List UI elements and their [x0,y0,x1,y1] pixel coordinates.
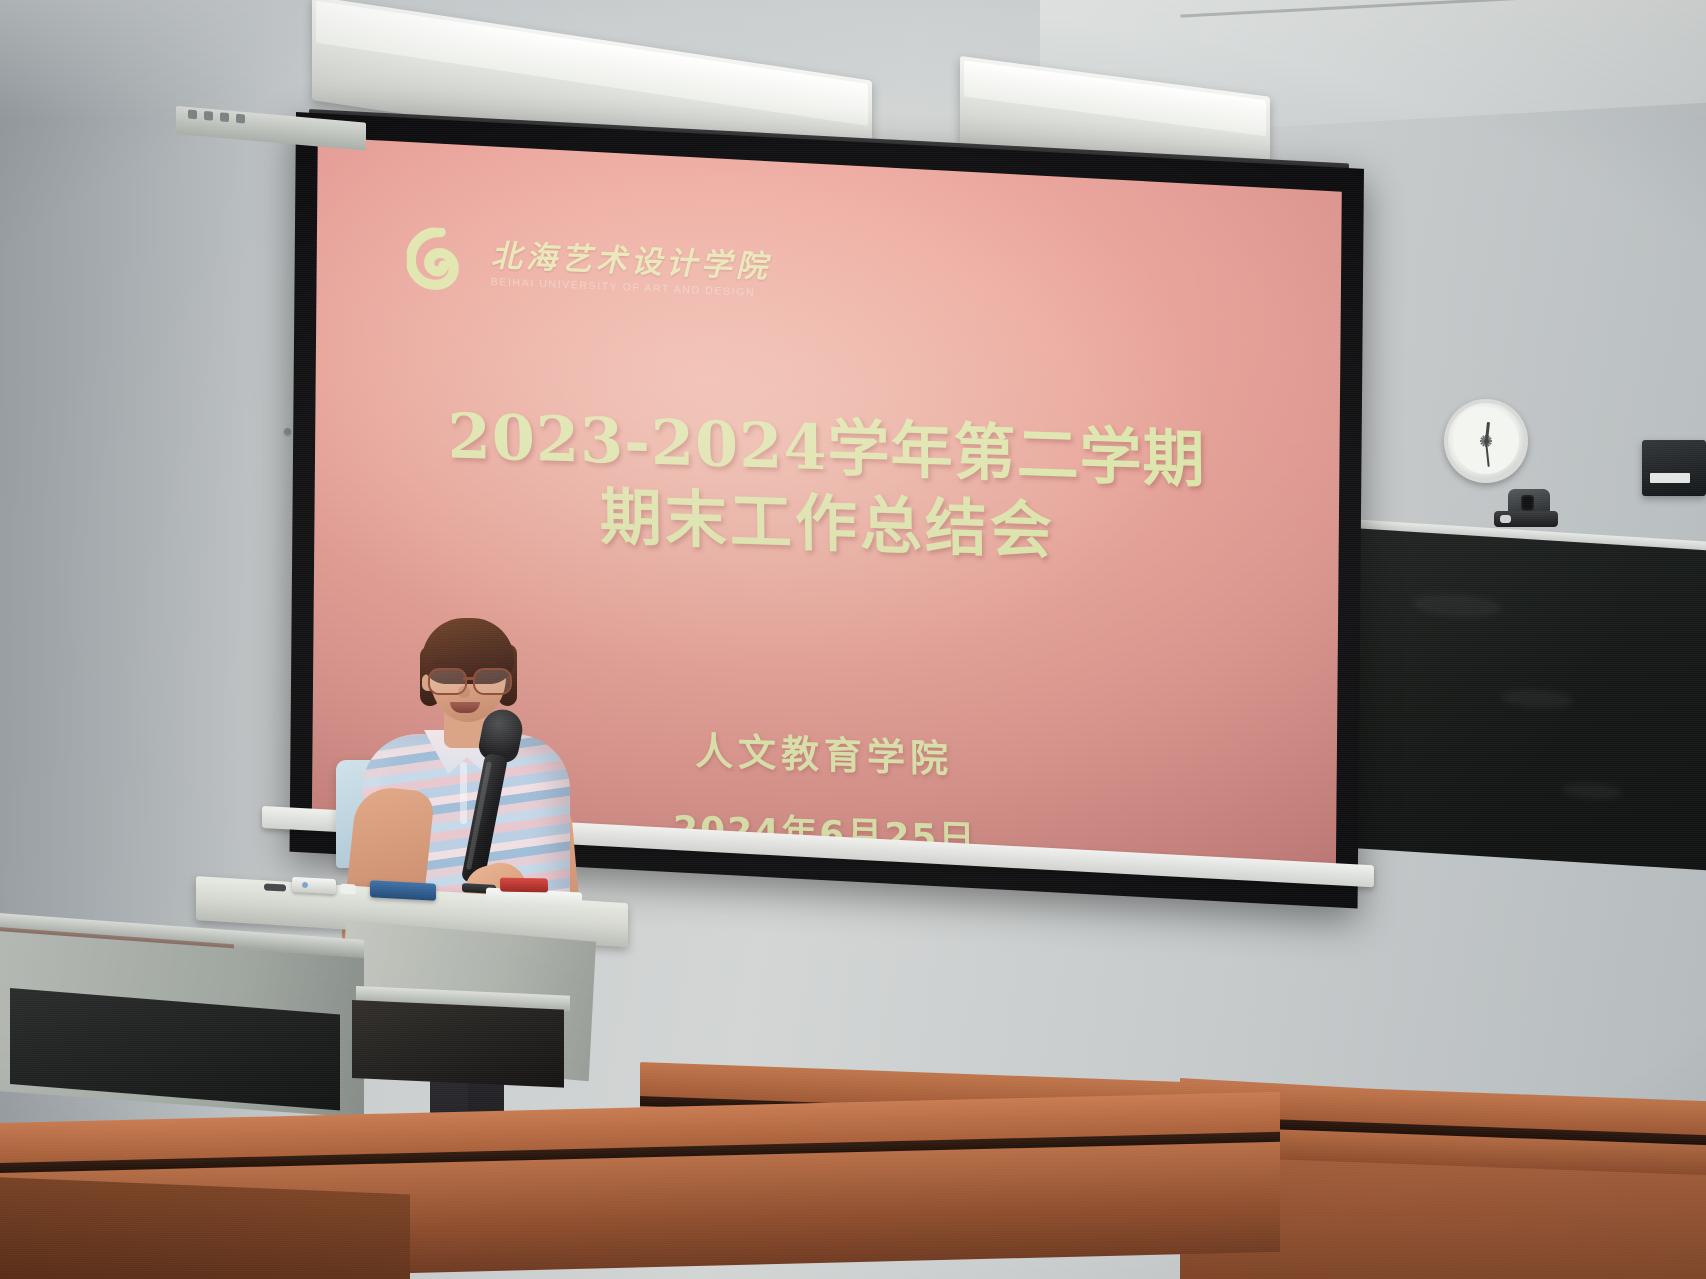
lens-right [473,668,512,695]
marker-cap[interactable] [340,884,356,895]
wall-control-panel[interactable] [1642,440,1706,496]
red-object[interactable] [500,878,548,893]
ptz-camera [1494,489,1560,531]
lectern-button[interactable] [204,111,213,121]
student-desk-left-block [0,1176,410,1279]
remote-control[interactable] [292,877,336,894]
classroom-photo-scene: 北海艺术设计学院 BEIHAI UNIVERSITY OF ART AND DE… [0,0,1706,1279]
panel-label-strip [1650,473,1690,483]
ptz-indicator [1500,515,1511,523]
lectern-button[interactable] [220,112,229,122]
slide-title: 2023-2024学年第二学期 期末工作总结会 [314,394,1340,578]
slide-brand-lockup: 北海艺术设计学院 BEIHAI UNIVERSITY OF ART AND DE… [407,227,771,310]
wall-clock [1444,399,1528,483]
presenter-nose [458,686,470,698]
spiral-swirl-logo-icon [407,227,475,298]
ptz-lens-icon [1521,495,1534,511]
cabinet-opening-secondary [352,1000,564,1088]
glasses-bridge [463,677,475,680]
clock-center-pin [1484,439,1489,444]
blue-case[interactable] [370,880,436,900]
remote-indicator [302,882,308,888]
lectern-button[interactable] [236,114,245,124]
lectern-button[interactable] [188,110,197,120]
clock-face [1453,408,1519,474]
blackboard [1352,528,1706,871]
desk-item-dark-small[interactable] [264,883,286,891]
